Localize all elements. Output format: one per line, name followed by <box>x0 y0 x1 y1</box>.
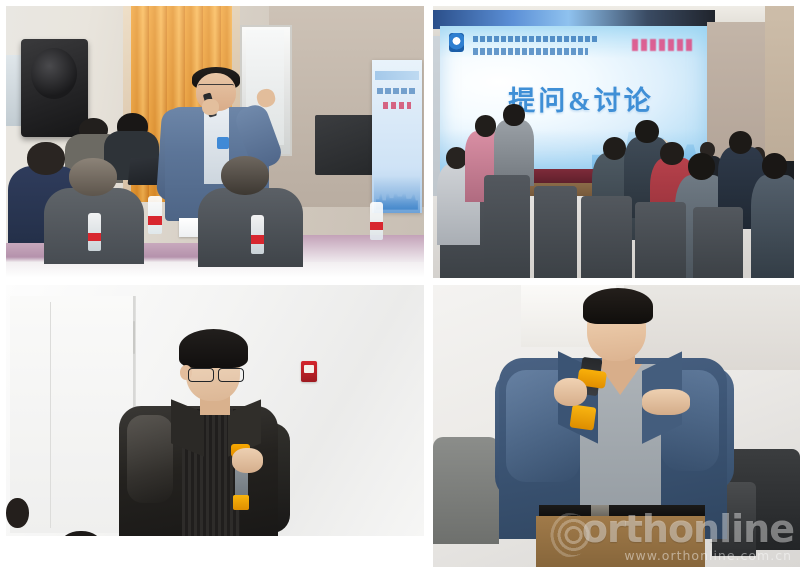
microphone-base <box>569 405 596 431</box>
attendee-head-right <box>221 156 269 195</box>
fire-alarm-icon <box>301 361 318 382</box>
photo-panel-bottom-right: orthonline www.orthonline.com.cn <box>433 285 800 567</box>
attendee-head <box>503 104 525 126</box>
wall-cabinet <box>10 296 135 533</box>
water-bottle <box>251 215 265 253</box>
attendee-head <box>475 115 497 137</box>
banner-subtitle-text <box>383 102 411 110</box>
microphone-base <box>233 495 250 510</box>
water-bottle <box>88 213 102 251</box>
speaker-gesturing-hand <box>642 389 690 414</box>
organization-logo-icon <box>449 33 464 52</box>
lens-left <box>188 368 214 382</box>
slide-header-line-2 <box>473 48 589 55</box>
jacket-highlight <box>127 415 173 503</box>
seat <box>635 202 686 278</box>
attendee-head <box>635 120 658 143</box>
pa-loudspeaker <box>21 39 88 137</box>
photo-panel-top-left <box>6 6 424 278</box>
rollup-banner <box>372 60 422 212</box>
banner-headline-text <box>377 88 417 94</box>
speaker-mic-hand <box>232 448 263 473</box>
eyeglasses-icon <box>188 368 244 380</box>
attendee-head-center <box>69 158 117 196</box>
speaker-badge <box>217 137 230 150</box>
seat <box>581 196 632 278</box>
lens-right <box>218 368 244 382</box>
photo-bottom-edge <box>6 536 424 561</box>
seat <box>484 175 531 278</box>
attendee-head <box>603 137 626 160</box>
cabinet-seam <box>50 302 52 528</box>
water-bottle <box>148 196 162 234</box>
speaker-mic-hand <box>554 378 587 406</box>
photo-collage: 提问&讨论 <box>0 0 800 567</box>
seat <box>693 207 744 278</box>
foreground-attendee-head-left <box>6 498 29 528</box>
attendee-head <box>762 153 787 179</box>
attendee-head <box>688 153 715 180</box>
speaker-mic-hand <box>202 99 219 115</box>
seat <box>534 186 577 278</box>
water-bottle <box>370 202 384 240</box>
speaker-hair <box>583 288 653 325</box>
slide-header-line-1 <box>473 36 599 43</box>
speaker-hair <box>179 329 248 368</box>
speaker-glasses <box>198 84 234 92</box>
photo-panel-bottom-left <box>6 285 424 561</box>
khaki-trousers <box>536 516 705 567</box>
photo-panel-top-right: 提问&讨论 <box>433 6 794 278</box>
auditorium-chair-left <box>433 437 499 544</box>
attendee-head <box>660 142 683 165</box>
attendee-body <box>751 175 794 278</box>
slide-calligraphy-text <box>632 39 693 51</box>
attendee-head-left <box>27 142 65 175</box>
wall-panel-right <box>624 285 800 370</box>
